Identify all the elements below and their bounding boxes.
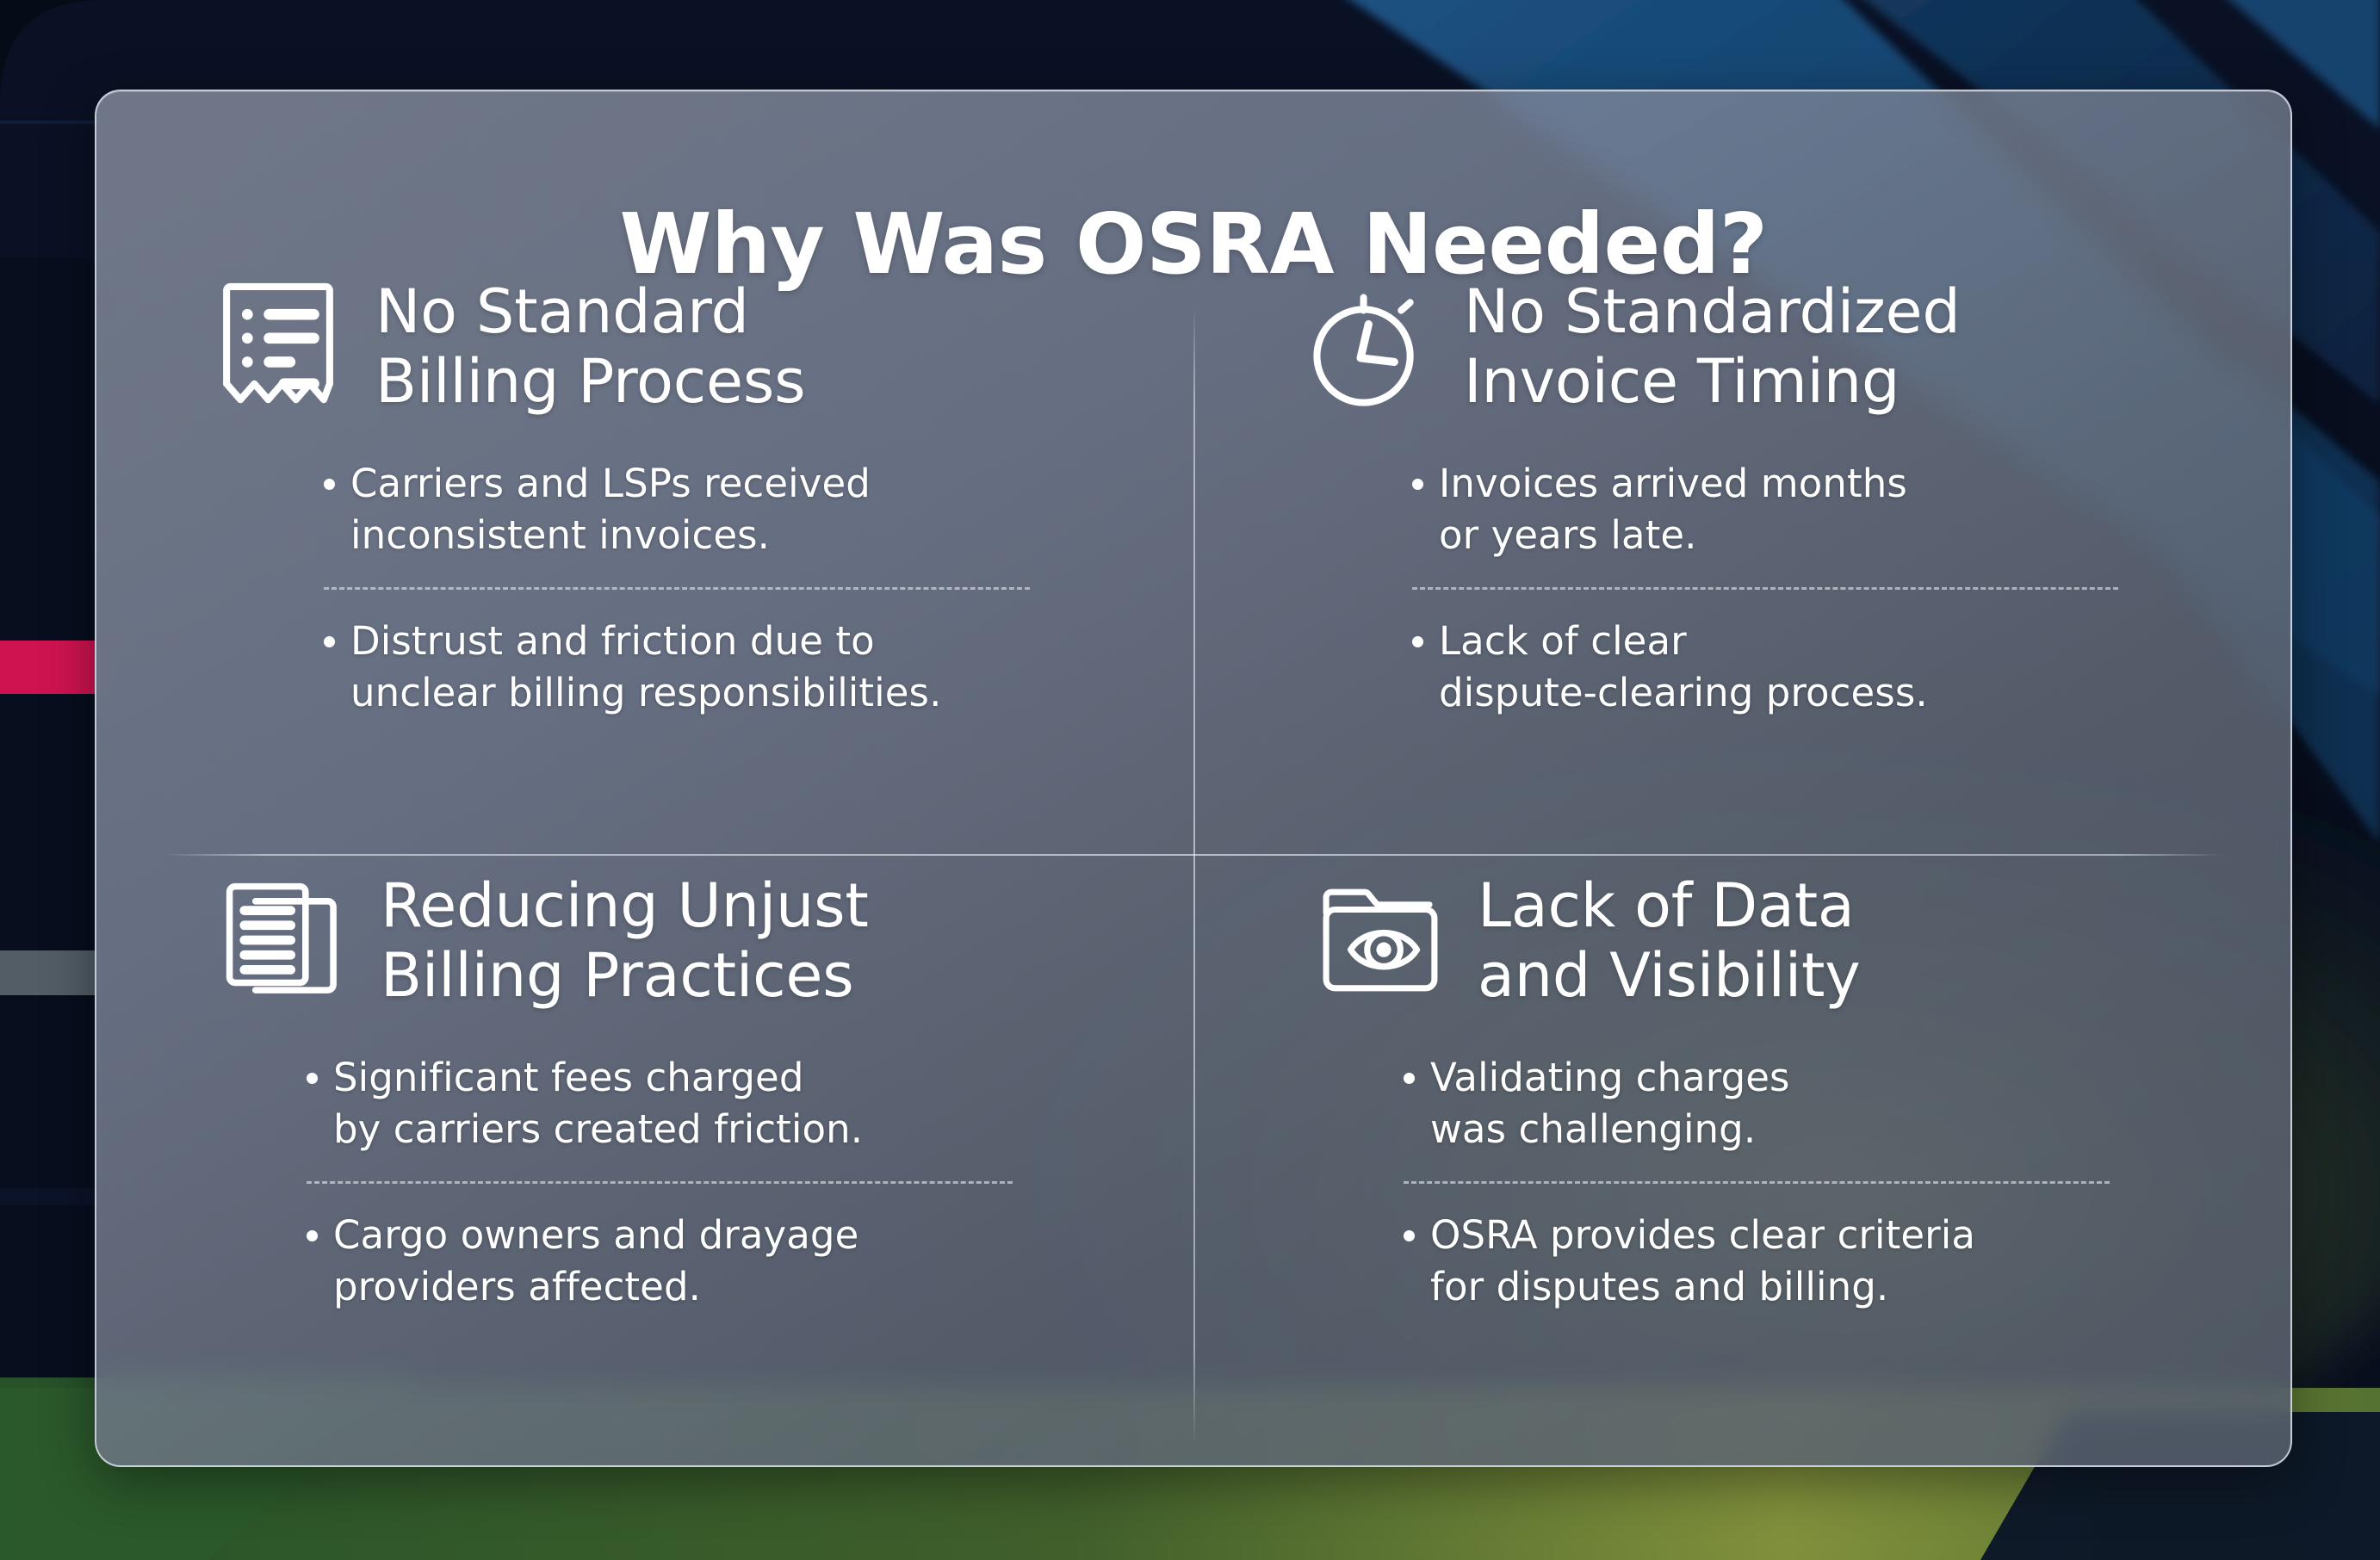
list-item: Lack of clear dispute-clearing process. — [1412, 616, 2187, 719]
quadrant-bullets: Significant fees charged by carriers cre… — [110, 1052, 1082, 1312]
bullet-dot — [1412, 636, 1423, 647]
list-item: Validating charges was challenging. — [1404, 1052, 2179, 1155]
quadrant-title: No Standardized Invoice Timing — [1464, 272, 1961, 417]
bullet-text: Significant fees charged by carriers cre… — [333, 1052, 863, 1155]
bullet-dot — [307, 1230, 318, 1241]
quadrant-title: No Standard Billing Process — [375, 272, 805, 417]
quadrant-title: Lack of Data and Visibility — [1478, 866, 1861, 1011]
quadrant-grid: No Standard Billing Process Carriers and… — [96, 272, 2290, 1465]
quadrant-no-standardized-invoice-timing: No Standardized Invoice Timing Invoices … — [1216, 272, 2284, 719]
bullet-text: Cargo owners and drayage providers affec… — [333, 1210, 858, 1313]
receipt-list-icon — [217, 281, 339, 412]
content-card: Why Was OSRA Needed? — [95, 90, 2292, 1467]
bullet-dot — [1412, 479, 1423, 490]
quadrant-reducing-unjust-billing-practices: Reducing Unjust Billing Practices Signif… — [110, 866, 1178, 1313]
bullet-separator — [1412, 587, 2118, 590]
bullet-dot — [324, 636, 335, 647]
bullet-text: Lack of clear dispute-clearing process. — [1439, 616, 1928, 719]
folder-eye-icon — [1319, 875, 1441, 1006]
quadrant-heading: Lack of Data and Visibility — [1207, 866, 2275, 1011]
bullet-text: Validating charges was challenging. — [1430, 1052, 1790, 1155]
crimson-stripe — [0, 641, 96, 694]
bullet-dot — [1404, 1230, 1415, 1241]
gray-stripe — [0, 950, 96, 995]
list-item: Carriers and LSPs received inconsistent … — [324, 458, 1099, 561]
bullet-dot — [1404, 1073, 1415, 1084]
bullet-separator — [307, 1181, 1013, 1184]
list-item: OSRA provides clear criteria for dispute… — [1404, 1210, 2179, 1313]
list-item: Distrust and friction due to unclear bil… — [324, 616, 1099, 719]
documents-stack-icon — [222, 875, 344, 1006]
bullet-separator — [1404, 1181, 2110, 1184]
bullet-separator — [324, 587, 1030, 590]
bullet-dot — [324, 479, 335, 490]
horizontal-divider — [164, 854, 2223, 856]
quadrant-bullets: Carriers and LSPs received inconsistent … — [127, 458, 1099, 718]
quadrant-lack-of-data-and-visibility: Lack of Data and Visibility Validating c… — [1207, 866, 2275, 1313]
quadrant-title: Reducing Unjust Billing Practices — [381, 866, 869, 1011]
list-item: Invoices arrived months or years late. — [1412, 458, 2187, 561]
quadrant-bullets: Validating charges was challenging. OSRA… — [1207, 1052, 2179, 1312]
quadrant-heading: No Standardized Invoice Timing — [1216, 272, 2284, 417]
bullet-dot — [307, 1073, 318, 1084]
bullet-text: Distrust and friction due to unclear bil… — [350, 616, 941, 719]
stopwatch-icon — [1305, 281, 1428, 412]
bullet-text: Invoices arrived months or years late. — [1439, 458, 1907, 561]
quadrant-bullets: Invoices arrived months or years late. L… — [1216, 458, 2187, 718]
bullet-text: Carriers and LSPs received inconsistent … — [350, 458, 871, 561]
quadrant-heading: No Standard Billing Process — [127, 272, 1195, 417]
quadrant-no-standard-billing-process: No Standard Billing Process Carriers and… — [127, 272, 1195, 719]
bullet-text: OSRA provides clear criteria for dispute… — [1430, 1210, 1975, 1313]
quadrant-heading: Reducing Unjust Billing Practices — [110, 866, 1178, 1011]
screenshot-stage: Why Was OSRA Needed? — [0, 0, 2380, 1560]
list-item: Significant fees charged by carriers cre… — [307, 1052, 1082, 1155]
list-item: Cargo owners and drayage providers affec… — [307, 1210, 1082, 1313]
